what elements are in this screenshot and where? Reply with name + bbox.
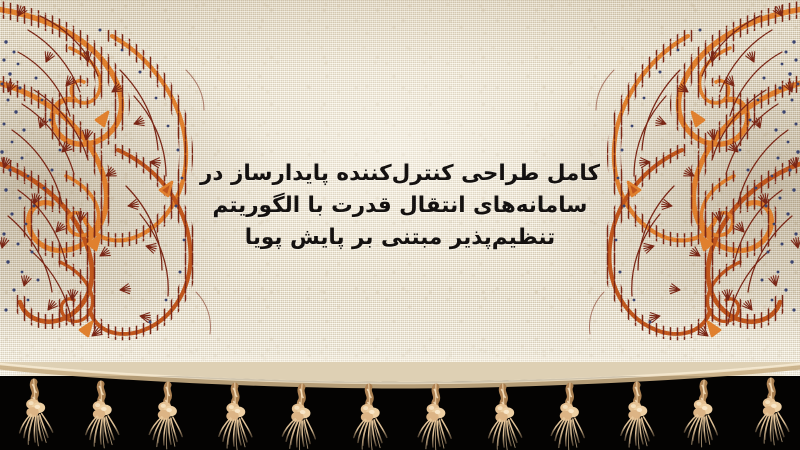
title-line-1: کامل طراحی کنترل‌کننده پایدارساز در — [140, 158, 660, 190]
title-line-2: سامانه‌های انتقال قدرت با الگوریتم — [140, 190, 660, 222]
title-text-block: کامل طراحی کنترل‌کننده پایدارساز در ساما… — [140, 158, 660, 254]
screenshot-root: کامل طراحی کنترل‌کننده پایدارساز در ساما… — [0, 0, 800, 450]
title-line-3: تنظیم‌پذیر مبتنی بر پایش پویا — [140, 222, 660, 254]
